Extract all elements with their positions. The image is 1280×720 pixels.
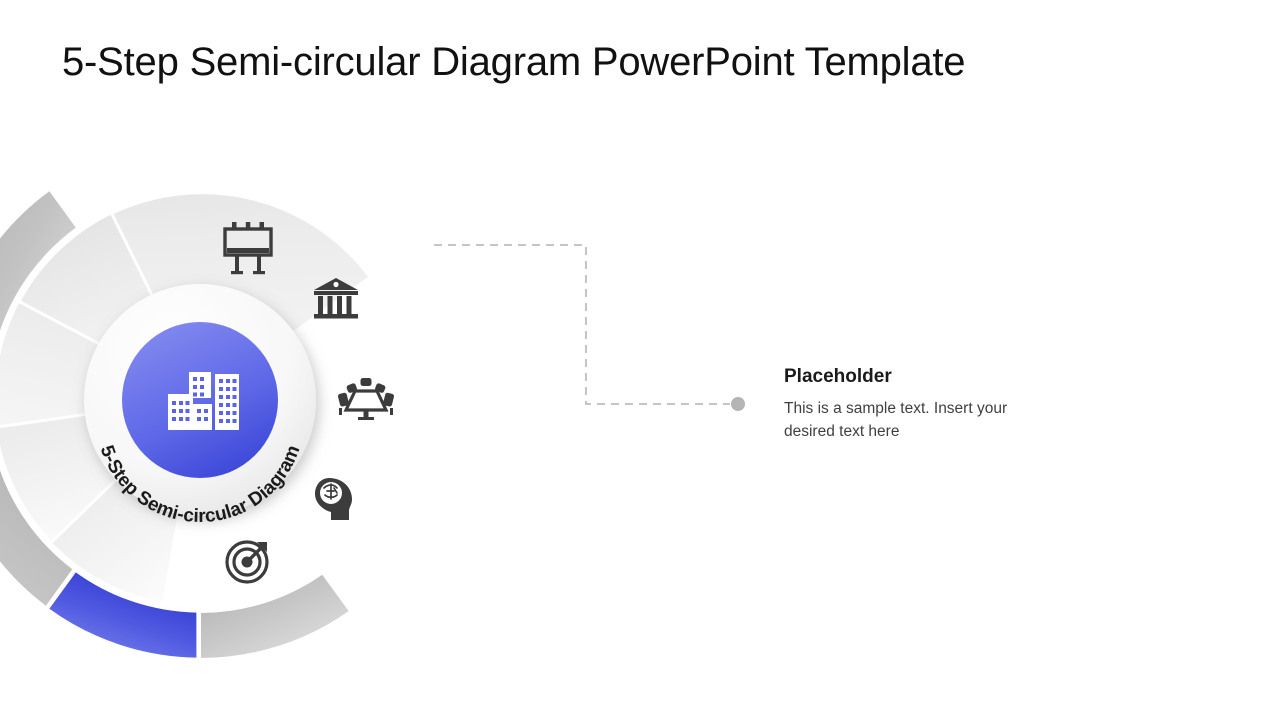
callout-body: This is a sample text. Insert your desir… bbox=[784, 397, 1016, 444]
semi-circular-diagram: STEP 01 STEP 02 STEP 03 bbox=[0, 0, 780, 720]
step-band-1-shape[interactable] bbox=[201, 575, 349, 658]
step-band-4-label: STEP 04 bbox=[265, 532, 350, 581]
connector-dot bbox=[731, 397, 745, 411]
head-brain-icon bbox=[315, 478, 352, 520]
slide-canvas: 5-Step Semi-circular Diagram PowerPoint … bbox=[0, 0, 1280, 720]
callout-title: Placeholder bbox=[784, 366, 1044, 389]
diagram-svg: STEP 01 STEP 02 STEP 03 bbox=[0, 0, 780, 720]
step-band-3-label: STEP 03 bbox=[470, 356, 495, 443]
hub-core-circle[interactable] bbox=[122, 322, 278, 478]
callout-panel: Placeholder This is a sample text. Inser… bbox=[784, 366, 1044, 443]
conference-table-icon bbox=[337, 378, 394, 420]
target-arrow-icon bbox=[227, 542, 267, 582]
